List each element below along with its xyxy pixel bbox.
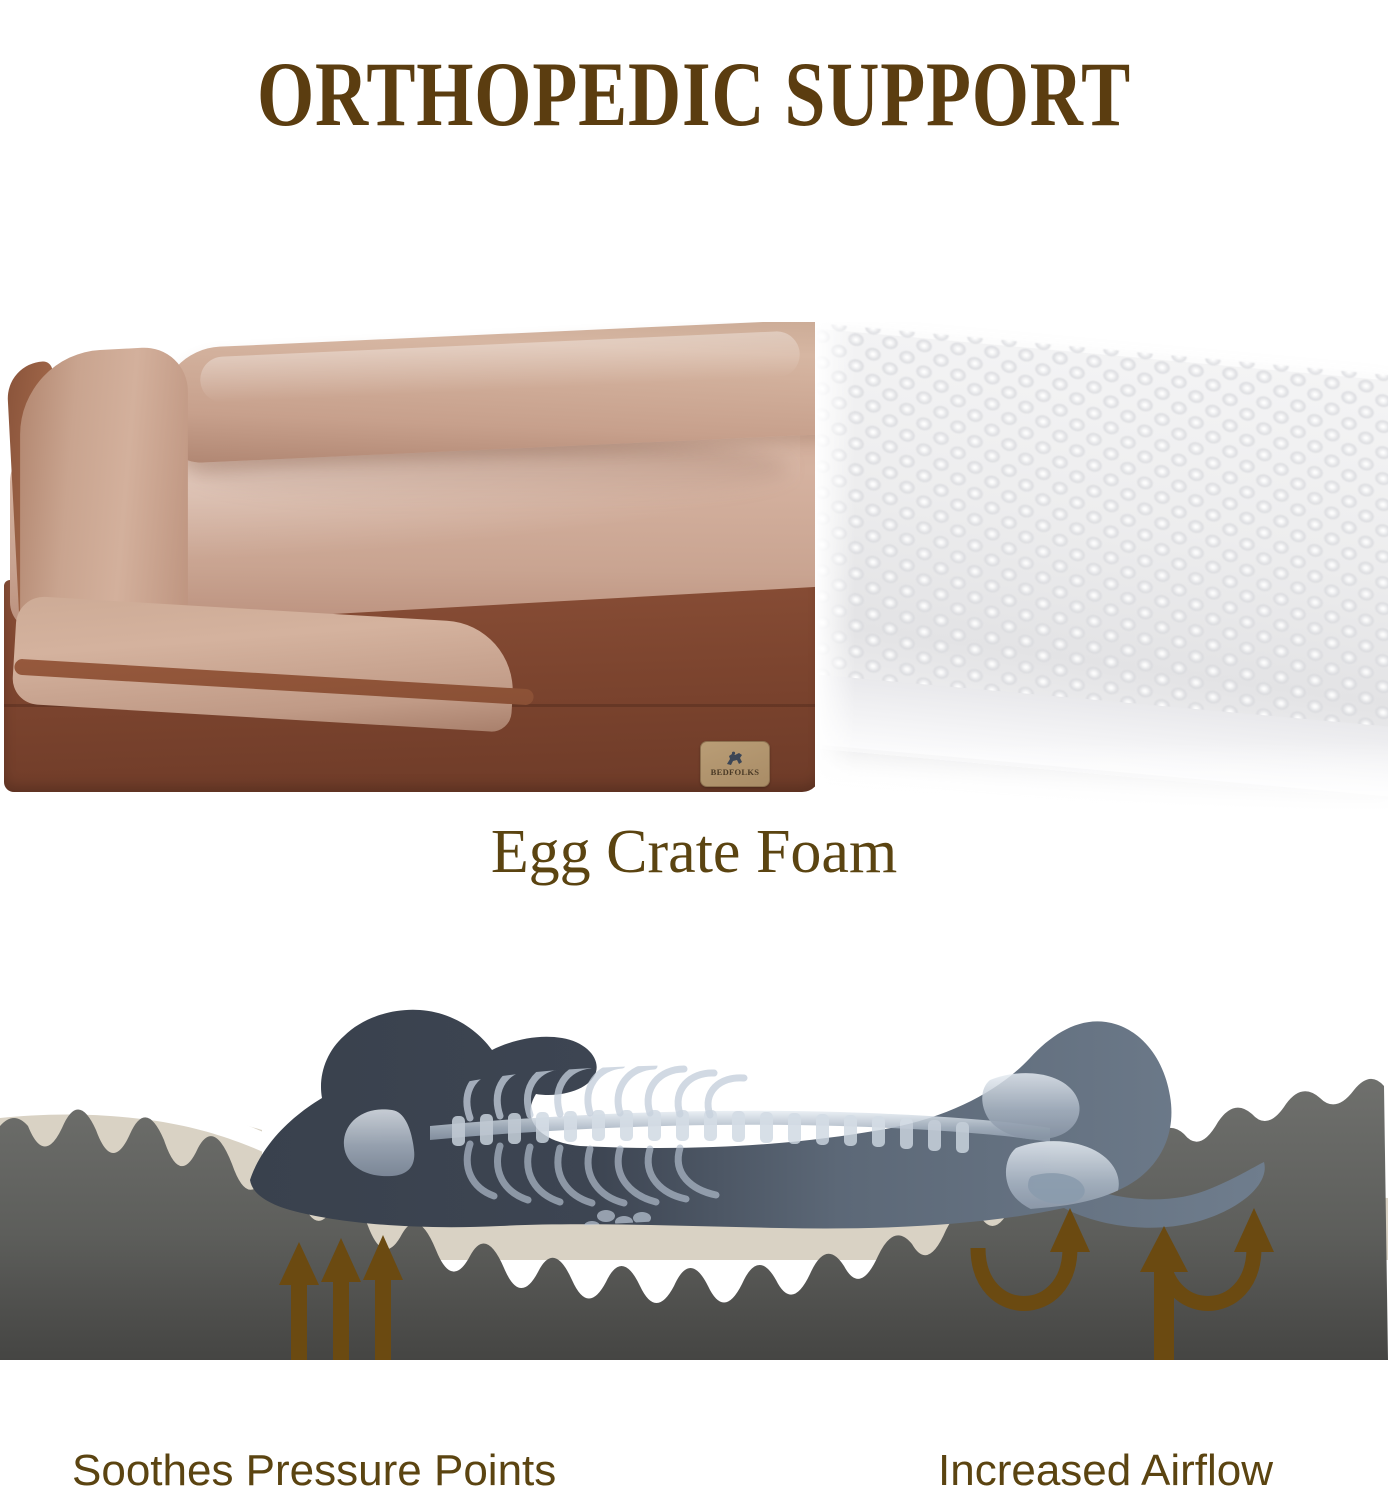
running-dog-icon — [724, 751, 746, 767]
brand-tag-label: BEDFOLKS — [711, 768, 760, 777]
foam-caption: Egg Crate Foam — [0, 818, 1388, 886]
product-photo-band — [0, 322, 1388, 812]
pressure-arrows — [279, 1235, 403, 1360]
label-increased-airflow: Increased Airflow — [938, 1446, 1273, 1496]
egg-crate-foam-slab — [815, 322, 1388, 812]
orthopedic-bolster-dog-bed — [0, 322, 820, 812]
support-diagram — [0, 930, 1388, 1360]
brand-tag: BEDFOLKS — [700, 741, 770, 787]
foam-bottom-fade — [815, 742, 1388, 812]
page-title: ORTHOPEDIC SUPPORT — [139, 48, 1249, 140]
foam-left-fade — [815, 322, 855, 812]
label-soothes-pressure-points: Soothes Pressure Points — [72, 1446, 556, 1496]
